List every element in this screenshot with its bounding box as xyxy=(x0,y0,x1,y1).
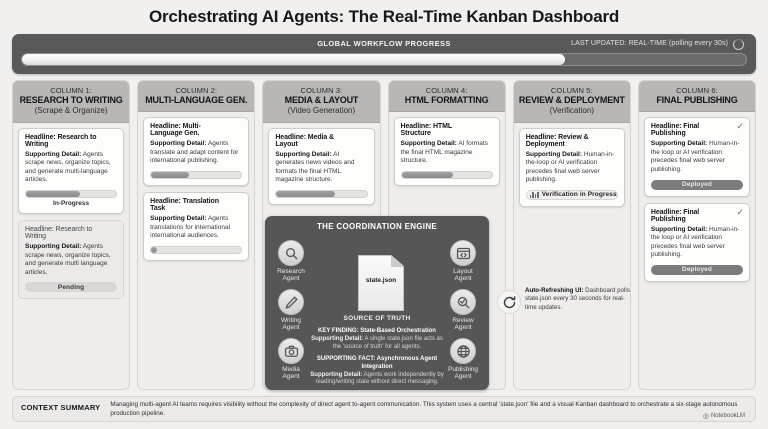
context-summary-label: CONTEXT SUMMARY xyxy=(21,401,100,412)
card-headline: Headline: Research to Writing xyxy=(25,226,117,240)
key-finding-detail-label: Supporting Detail: xyxy=(311,336,363,342)
agent-writing[interactable]: WritingAgent xyxy=(269,289,313,332)
global-progress-fill xyxy=(22,54,565,65)
kanban-column: COLUMN 6:FINAL PUBLISHING✓Headline: Fina… xyxy=(638,80,756,390)
column-body: ✓Headline: Final PublishingSupporting De… xyxy=(639,112,755,287)
column-body: Headline: Media & LayoutSupporting Detai… xyxy=(263,123,379,210)
column-body: Headline: Review & DeploymentSupporting … xyxy=(514,123,630,212)
global-workflow-progress-banner: GLOBAL WORKFLOW PROGRESS LAST UPDATED: R… xyxy=(12,34,756,74)
agent-name-line2: Agent xyxy=(455,324,472,331)
agent-name-line1: Media xyxy=(282,366,300,373)
task-card[interactable]: Headline: Multi-Language Gen.Supporting … xyxy=(143,117,249,186)
agent-review[interactable]: ReviewAgent xyxy=(441,289,485,332)
column-subtitle: (Video Generation) xyxy=(266,106,376,116)
column-body: Headline: HTML StructureSupporting Detai… xyxy=(389,112,505,191)
agent-name-line1: Writing xyxy=(281,317,301,324)
card-detail-label: Supporting Detail: xyxy=(526,151,582,158)
agent-name-line1: Review xyxy=(452,317,473,324)
column-kicker: COLUMN 3: xyxy=(266,86,376,95)
activity-bars-icon xyxy=(530,192,539,198)
card-progress-bar[interactable] xyxy=(150,246,242,254)
key-finding-title: KEY FINDING: State-Based Orchestration xyxy=(307,328,447,336)
global-progress-track[interactable] xyxy=(21,53,747,66)
card-status-pill: Verification in Progress xyxy=(526,190,618,200)
card-headline: Headline: HTML Structure xyxy=(401,123,493,137)
card-status-pill-label: Pending xyxy=(58,284,84,291)
column-kicker: COLUMN 2: xyxy=(141,86,251,95)
task-card[interactable]: Headline: HTML StructureSupporting Detai… xyxy=(394,117,500,186)
card-headline: Headline: Review & Deployment xyxy=(526,134,618,148)
column-header: COLUMN 2:MULTI-LANGUAGE GEN. xyxy=(138,81,254,112)
pencil-icon xyxy=(278,289,304,315)
engine-title: THE COORDINATION ENGINE xyxy=(265,222,489,231)
card-status-pill-label: Verification in Progress xyxy=(542,191,617,198)
card-detail-label: Supporting Detail: xyxy=(25,151,81,158)
agent-name-line1: Publishing xyxy=(448,366,478,373)
card-detail: Supporting Detail: AI formats the final … xyxy=(401,140,493,166)
card-status-pill: Deployed xyxy=(651,180,743,190)
notebooklm-label: NotebookLM xyxy=(711,413,745,419)
card-headline: Headline: Media & Layout xyxy=(275,134,367,148)
column-title: MEDIA & LAYOUT xyxy=(266,95,376,106)
card-detail: Supporting Detail: Agents translations f… xyxy=(150,215,242,241)
card-headline: Headline: Translation Task xyxy=(150,198,242,212)
agent-name-line1: Research xyxy=(277,268,305,275)
check-icon: ✓ xyxy=(736,122,744,131)
card-headline: Headline: Final Publishing xyxy=(651,209,743,223)
supporting-fact-detail-label: Supporting Detail: xyxy=(310,372,362,378)
agent-name-line2: Agent xyxy=(283,275,300,282)
agent-layout[interactable]: LayoutAgent xyxy=(441,240,485,283)
context-summary: CONTEXT SUMMARY Managing multi-agent AI … xyxy=(12,396,756,422)
context-summary-text: Managing multi-agent AI teams requires v… xyxy=(110,401,747,418)
magnifier-icon xyxy=(278,240,304,266)
source-of-truth-label: SOURCE OF TRUTH xyxy=(327,315,427,322)
task-card[interactable]: Headline: Research to WritingSupporting … xyxy=(18,220,124,299)
card-headline: Headline: Multi-Language Gen. xyxy=(150,123,242,137)
column-header: COLUMN 1:RESEARCH TO WRITING(Scrape & Or… xyxy=(13,81,129,123)
task-card[interactable]: ✓Headline: Final PublishingSupporting De… xyxy=(644,117,750,196)
kanban-column: COLUMN 1:RESEARCH TO WRITING(Scrape & Or… xyxy=(12,80,130,390)
auto-refresh-annotation: Auto-Refreshing UI: Dashboard polls stat… xyxy=(497,287,632,312)
agent-name-line2: Agent xyxy=(283,324,300,331)
state-json-label: state.json xyxy=(358,277,404,284)
task-card[interactable]: Headline: Media & LayoutSupporting Detai… xyxy=(268,128,374,205)
card-status-pill: Pending xyxy=(25,282,117,292)
agent-publishing[interactable]: PublishingAgent xyxy=(441,338,485,381)
card-headline: Headline: Final Publishing xyxy=(651,123,743,137)
column-kicker: COLUMN 5: xyxy=(517,86,627,95)
page-title: Orchestrating AI Agents: The Real-Time K… xyxy=(0,0,768,27)
card-detail-label: Supporting Detail: xyxy=(150,215,206,222)
column-kicker: COLUMN 6: xyxy=(642,86,752,95)
card-progress-fill xyxy=(402,172,453,178)
column-header: COLUMN 5:REVIEW & DEPLOYMENT(Verificatio… xyxy=(514,81,630,123)
camera-icon xyxy=(278,338,304,364)
code-window-icon xyxy=(450,240,476,266)
column-body: Headline: Research to WritingSupporting … xyxy=(13,123,129,305)
task-card[interactable]: Headline: Translation TaskSupporting Det… xyxy=(143,192,249,261)
card-detail: Supporting Detail: Agents scrape news, o… xyxy=(25,243,117,277)
check-magnifier-icon xyxy=(450,289,476,315)
coordination-engine-panel: THE COORDINATION ENGINE ResearchAgent Wr… xyxy=(265,216,489,390)
notebooklm-brand: ◎ NotebookLM xyxy=(703,412,745,420)
kanban-column: COLUMN 2:MULTI-LANGUAGE GEN.Headline: Mu… xyxy=(137,80,255,390)
polling-spinner-icon xyxy=(733,39,744,50)
card-progress-bar[interactable] xyxy=(401,171,493,179)
column-kicker: COLUMN 4: xyxy=(392,86,502,95)
card-detail-label: Supporting Detail: xyxy=(651,226,707,233)
card-status-pill: Deployed xyxy=(651,265,743,275)
card-progress-bar[interactable] xyxy=(150,171,242,179)
card-detail-label: Supporting Detail: xyxy=(275,151,331,158)
state-json-document-icon: state.json xyxy=(358,255,404,311)
column-header: COLUMN 3:MEDIA & LAYOUT(Video Generation… xyxy=(263,81,379,123)
card-progress-fill xyxy=(276,191,335,197)
card-detail: Supporting Detail: Agents translate and … xyxy=(150,140,242,166)
column-title: FINAL PUBLISHING xyxy=(642,95,752,106)
agent-research[interactable]: ResearchAgent xyxy=(269,240,313,283)
card-detail-label: Supporting Detail: xyxy=(150,140,206,147)
card-detail: Supporting Detail: AI generates news vid… xyxy=(275,151,367,185)
task-card[interactable]: Headline: Review & DeploymentSupporting … xyxy=(519,128,625,207)
task-card[interactable]: Headline: Research to WritingSupporting … xyxy=(18,128,124,214)
card-detail-label: Supporting Detail: xyxy=(25,243,81,250)
column-title: MULTI-LANGUAGE GEN. xyxy=(141,95,251,106)
card-status-text: In-Progress xyxy=(25,200,117,207)
agent-name-line2: Agent xyxy=(455,373,472,380)
supporting-fact-block: SUPPORTING FACT: Asynchronous Agent Inte… xyxy=(307,356,447,387)
column-header: COLUMN 4:HTML FORMATTING xyxy=(389,81,505,112)
supporting-fact-title: SUPPORTING FACT: Asynchronous Agent Inte… xyxy=(307,356,447,372)
kanban-column: COLUMN 5:REVIEW & DEPLOYMENT(Verificatio… xyxy=(513,80,631,390)
agent-name-line1: Layout xyxy=(453,268,473,275)
card-progress-fill xyxy=(26,191,80,197)
card-headline: Headline: Research to Writing xyxy=(25,134,117,148)
column-title: RESEARCH TO WRITING xyxy=(16,95,126,106)
agent-name-line2: Agent xyxy=(455,275,472,282)
card-status-pill-label: Deployed xyxy=(682,181,712,188)
card-detail: Supporting Detail: Agents scrape news, o… xyxy=(25,151,117,185)
column-title: REVIEW & DEPLOYMENT xyxy=(517,95,627,106)
card-progress-bar[interactable] xyxy=(25,190,117,198)
card-detail: Supporting Detail: Human-in-the loop or … xyxy=(651,226,743,260)
refresh-icon xyxy=(497,290,521,314)
column-body: Headline: Multi-Language Gen.Supporting … xyxy=(138,112,254,265)
card-detail: Supporting Detail: Human-in-the loop or … xyxy=(651,140,743,174)
agent-name-line2: Agent xyxy=(283,373,300,380)
globe-icon xyxy=(450,338,476,364)
column-subtitle: (Scrape & Organize) xyxy=(16,106,126,116)
card-detail: Supporting Detail: Human-in-the-loop or … xyxy=(526,151,618,185)
column-kicker: COLUMN 1: xyxy=(16,86,126,95)
card-detail-label: Supporting Detail: xyxy=(651,140,707,147)
card-detail-label: Supporting Detail: xyxy=(401,140,457,147)
last-updated-label: LAST UPDATED: REAL-TIME (polling every 3… xyxy=(571,40,728,47)
card-progress-bar[interactable] xyxy=(275,190,367,198)
card-progress-fill xyxy=(151,247,156,253)
column-title: HTML FORMATTING xyxy=(392,95,502,106)
column-subtitle: (Verification) xyxy=(517,106,627,116)
notebooklm-logo-icon: ◎ xyxy=(703,412,709,420)
task-card[interactable]: ✓Headline: Final PublishingSupporting De… xyxy=(644,203,750,282)
column-header: COLUMN 6:FINAL PUBLISHING xyxy=(639,81,755,112)
key-finding-block: KEY FINDING: State-Based Orchestration S… xyxy=(307,328,447,351)
annotation-title: Auto-Refreshing UI: xyxy=(525,287,583,294)
check-icon: ✓ xyxy=(736,208,744,217)
card-status-pill-label: Deployed xyxy=(682,266,712,273)
card-progress-fill xyxy=(151,172,189,178)
